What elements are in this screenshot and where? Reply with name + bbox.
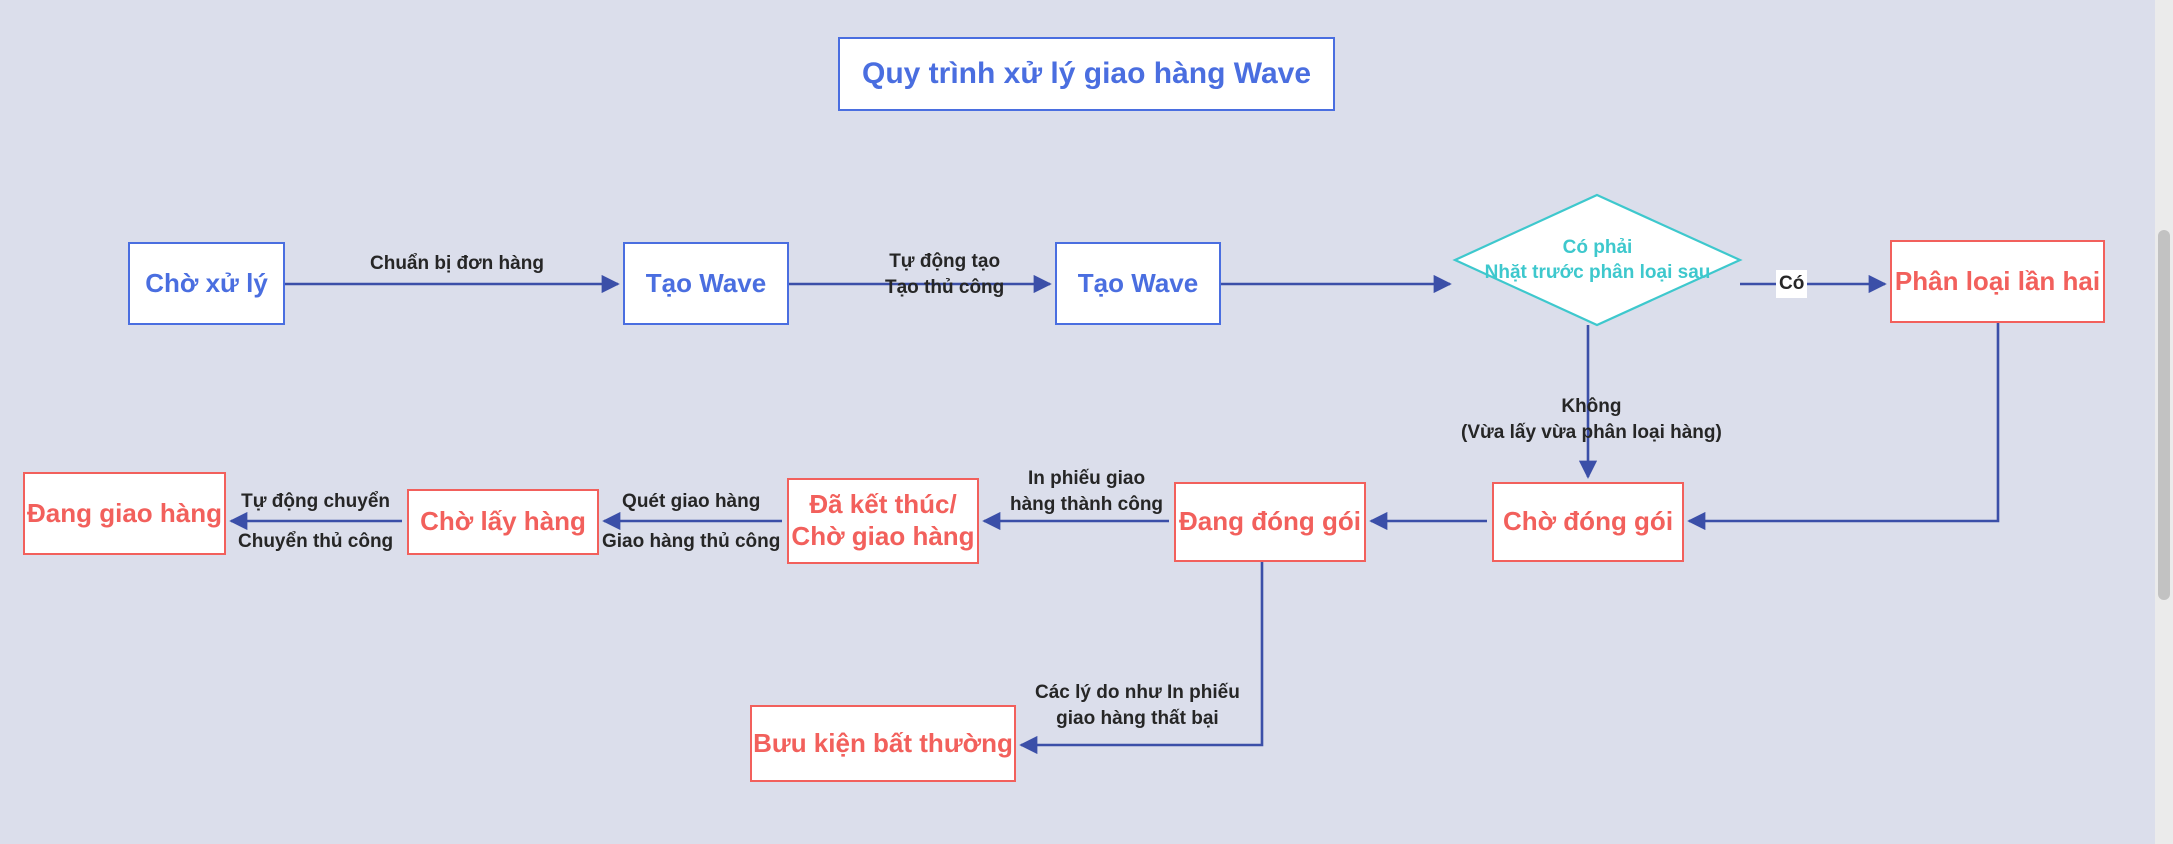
edge-label-in-phieu-giao-hang-thanh-cong: In phiếu giao hàng thành công: [1010, 466, 1163, 517]
edge-label-tu-dong-tao-line-2: Tạo thủ công: [885, 275, 1004, 301]
edge-label-chuyen-gap: [238, 515, 393, 529]
node-tao-wave-1[interactable]: Tạo Wave: [623, 242, 789, 325]
node-da-ket-thuc-label: Đã kết thúc/ Chờ giao hàng: [791, 489, 974, 552]
node-buu-kien-bat-thuong[interactable]: Bưu kiện bất thường: [750, 705, 1016, 782]
node-buu-kien-bat-thuong-label: Bưu kiện bất thường: [753, 728, 1013, 760]
node-tao-wave-2-label: Tạo Wave: [1078, 268, 1198, 300]
edge-label-co-line-1: Có: [1779, 271, 1804, 297]
edge-label-khong: Không (Vừa lấy vừa phân loại hàng): [1461, 394, 1722, 445]
vertical-scrollbar-track[interactable]: [2155, 0, 2173, 844]
node-da-ket-thuc-line-1: Đã kết thúc/: [809, 489, 956, 519]
edge-label-chuan-bi-don-hang-line-1: Chuẩn bị đơn hàng: [370, 251, 544, 277]
node-dang-giao-hang[interactable]: Đang giao hàng: [23, 472, 226, 555]
edge-label-khong-line-2: (Vừa lấy vừa phân loại hàng): [1461, 420, 1722, 446]
edge-label-quet-giao-hang-line-2: Giao hàng thủ công: [602, 529, 780, 555]
edge-label-quet-gap: [602, 515, 780, 529]
edge-label-quet-giao-hang-line-1: Quét giao hàng: [602, 489, 780, 515]
edge-label-khong-line-1: Không: [1461, 394, 1722, 420]
edge-label-cac-ly-do-in-phieu-that-bai: Các lý do như In phiếu giao hàng thất bạ…: [1035, 680, 1240, 731]
node-phan-loai-lan-hai-label: Phân loại lần hai: [1895, 266, 2100, 298]
edge-label-tu-dong-chuyen: Tự động chuyển Chuyển thủ công: [238, 489, 393, 554]
edge-label-tu-dong-tao-line-1: Tự động tạo: [885, 249, 1004, 275]
edge-label-in-phieu-line-1: In phiếu giao: [1010, 466, 1163, 492]
node-cho-lay-hang-label: Chờ lấy hàng: [420, 506, 586, 538]
node-dang-giao-hang-label: Đang giao hàng: [27, 498, 222, 530]
decision-label-line-2: Nhặt trước phân loại sau: [1455, 261, 1740, 286]
node-cho-xu-ly[interactable]: Chờ xử lý: [128, 242, 285, 325]
node-co-phai-nhat-truoc-phan-loai-sau[interactable]: Có phải Nhặt trước phân loại sau: [1455, 236, 1740, 285]
node-tao-wave-1-label: Tạo Wave: [646, 268, 766, 300]
edge-label-cac-ly-do-line-1: Các lý do như In phiếu: [1035, 680, 1240, 706]
edge-label-quet-giao-hang: Quét giao hàng Giao hàng thủ công: [602, 489, 780, 554]
node-dang-dong-goi-label: Đang đóng gói: [1179, 506, 1361, 538]
vertical-scrollbar-thumb[interactable]: [2158, 230, 2170, 600]
node-da-ket-thuc-line-2: Chờ giao hàng: [791, 521, 974, 551]
node-tao-wave-2[interactable]: Tạo Wave: [1055, 242, 1221, 325]
node-cho-dong-goi-label: Chờ đóng gói: [1503, 506, 1673, 538]
node-dang-dong-goi[interactable]: Đang đóng gói: [1174, 482, 1366, 562]
diagram-title-box: Quy trình xử lý giao hàng Wave: [838, 37, 1335, 111]
edge-label-cac-ly-do-line-2: giao hàng thất bại: [1035, 706, 1240, 732]
node-phan-loai-lan-hai[interactable]: Phân loại lần hai: [1890, 240, 2105, 323]
diagram-title-text: Quy trình xử lý giao hàng Wave: [862, 56, 1311, 93]
node-cho-xu-ly-label: Chờ xử lý: [145, 268, 268, 300]
edge-phan-loai-lan-hai-to-cho-dong-goi: [1689, 323, 1998, 521]
edge-label-co: Có: [1776, 270, 1807, 298]
edge-label-tu-dong-chuyen-line-2: Chuyển thủ công: [238, 529, 393, 555]
node-da-ket-thuc-cho-giao-hang[interactable]: Đã kết thúc/ Chờ giao hàng: [787, 478, 979, 564]
node-cho-dong-goi[interactable]: Chờ đóng gói: [1492, 482, 1684, 562]
diagram-canvas: Quy trình xử lý giao hàng Wave Chờ xử lý…: [0, 0, 2155, 844]
decision-label-line-1: Có phải: [1455, 236, 1740, 261]
edge-label-tu-dong-tao: Tự động tạo Tạo thủ công: [885, 249, 1004, 300]
edge-label-in-phieu-line-2: hàng thành công: [1010, 492, 1163, 518]
node-cho-lay-hang[interactable]: Chờ lấy hàng: [407, 489, 599, 555]
edge-label-chuan-bi-don-hang: Chuẩn bị đơn hàng: [370, 251, 544, 277]
edge-label-tu-dong-chuyen-line-1: Tự động chuyển: [238, 489, 393, 515]
